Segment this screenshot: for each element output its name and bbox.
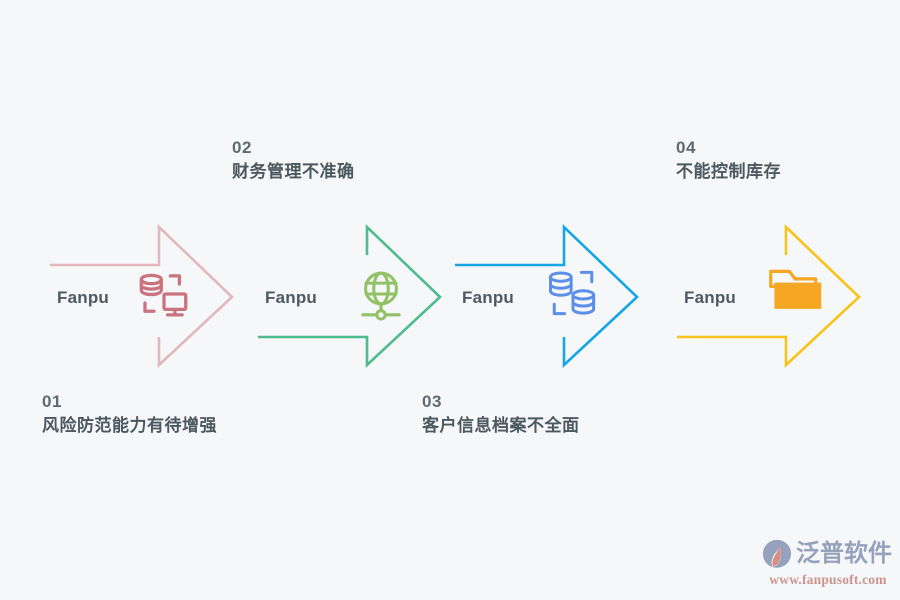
step-number-4: 04 <box>676 138 781 158</box>
process-step-3[interactable]: Fanpu <box>450 215 680 375</box>
step-text-3: 客户信息档案不全面 <box>422 416 580 436</box>
folder-icon <box>766 262 824 320</box>
watermark-brand-row: 泛普软件 <box>762 536 894 570</box>
infographic-canvas: Fanpu Fanpu <box>0 0 900 600</box>
brand-label-1: Fanpu <box>57 289 109 306</box>
step-text-1: 风险防范能力有待增强 <box>42 416 217 436</box>
step-number-1: 01 <box>42 392 217 412</box>
step-caption-1: 01 风险防范能力有待增强 <box>42 392 217 436</box>
watermark-url-text: www.fanpusoft.com <box>762 572 894 588</box>
database-stack-icon <box>543 263 601 321</box>
process-step-2[interactable]: Fanpu <box>253 215 483 375</box>
step-number-3: 03 <box>422 392 580 412</box>
step-caption-2: 02 财务管理不准确 <box>232 138 355 182</box>
brand-label-2: Fanpu <box>265 289 317 306</box>
step-caption-3: 03 客户信息档案不全面 <box>422 392 580 436</box>
watermark: 泛普软件 www.fanpusoft.com <box>762 536 894 590</box>
step-text-4: 不能控制库存 <box>676 162 781 182</box>
process-step-4[interactable]: Fanpu <box>672 215 900 375</box>
step-number-2: 02 <box>232 138 355 158</box>
fanpu-logo-mark <box>762 538 792 568</box>
watermark-brand-text: 泛普软件 <box>796 541 892 565</box>
step-caption-4: 04 不能控制库存 <box>676 138 781 182</box>
globe-network-icon <box>352 265 410 323</box>
process-step-1[interactable]: Fanpu <box>45 215 275 375</box>
database-monitor-icon <box>135 265 193 323</box>
brand-label-3: Fanpu <box>462 289 514 306</box>
step-text-2: 财务管理不准确 <box>232 162 355 182</box>
brand-label-4: Fanpu <box>684 289 736 306</box>
